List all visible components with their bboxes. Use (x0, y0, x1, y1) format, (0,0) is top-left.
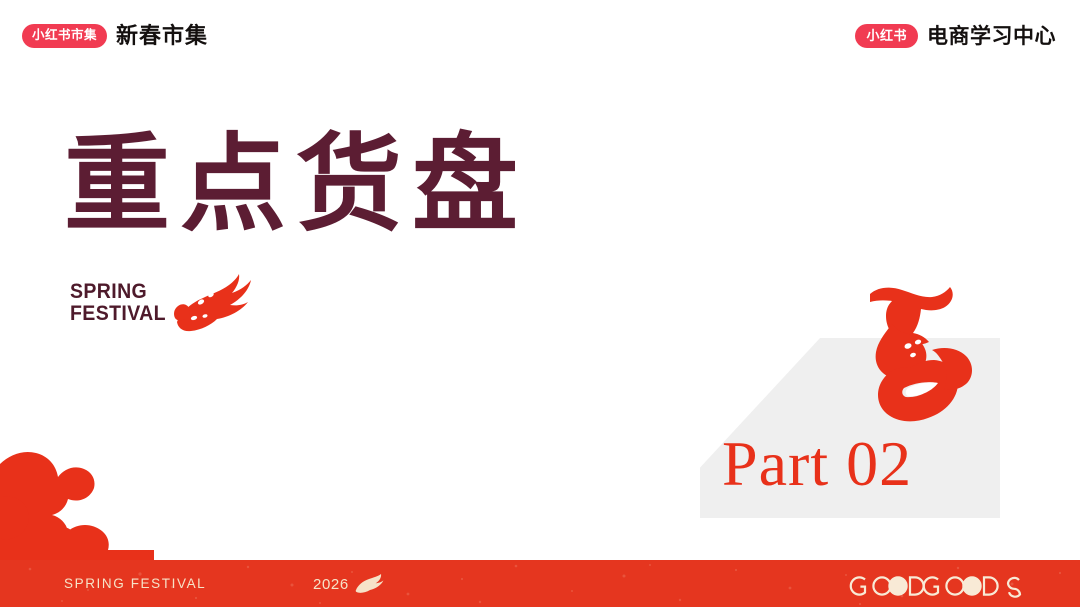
spring-festival-line1: SPRING (70, 281, 166, 302)
xiaohongshu-badge-icon: 小红书 (855, 24, 918, 48)
slide-canvas: 小红书市集 新春市集 小红书 电商学习中心 重点货盘 SPRING FESTIV… (0, 0, 1080, 607)
swallow-bird-icon (354, 574, 384, 594)
swallow-bird-icon (167, 272, 251, 334)
goodgoods-wordmark-icon (848, 571, 1038, 601)
spring-festival-lockup: SPRING FESTIVAL (70, 272, 251, 324)
spring-festival-text: SPRING FESTIVAL (70, 281, 166, 324)
paper-cut-horse-icon (856, 284, 988, 424)
header-right-wordmark: 电商学习中心 (927, 26, 1056, 47)
header-left-wordmark: 新春市集 (116, 25, 208, 47)
footer-year-group: 2026 (313, 574, 384, 594)
footer-spring-festival-text: SPRING FESTIVAL (64, 577, 206, 591)
goodgoods-logo (848, 571, 1038, 601)
footer-year-text: 2026 (313, 577, 349, 592)
page-title: 重点货盘 (64, 128, 528, 242)
xiaohongshu-market-badge-icon: 小红书市集 (22, 24, 107, 48)
section-label: Part 02 (722, 432, 912, 496)
header-left-logo: 小红书市集 新春市集 (22, 24, 208, 48)
footer-band: SPRING FESTIVAL 2026 (0, 560, 1080, 607)
spring-festival-line2: FESTIVAL (70, 303, 166, 324)
paper-cut-cloud-icon (0, 443, 154, 561)
header-right-logo: 小红书 电商学习中心 (855, 24, 1056, 48)
